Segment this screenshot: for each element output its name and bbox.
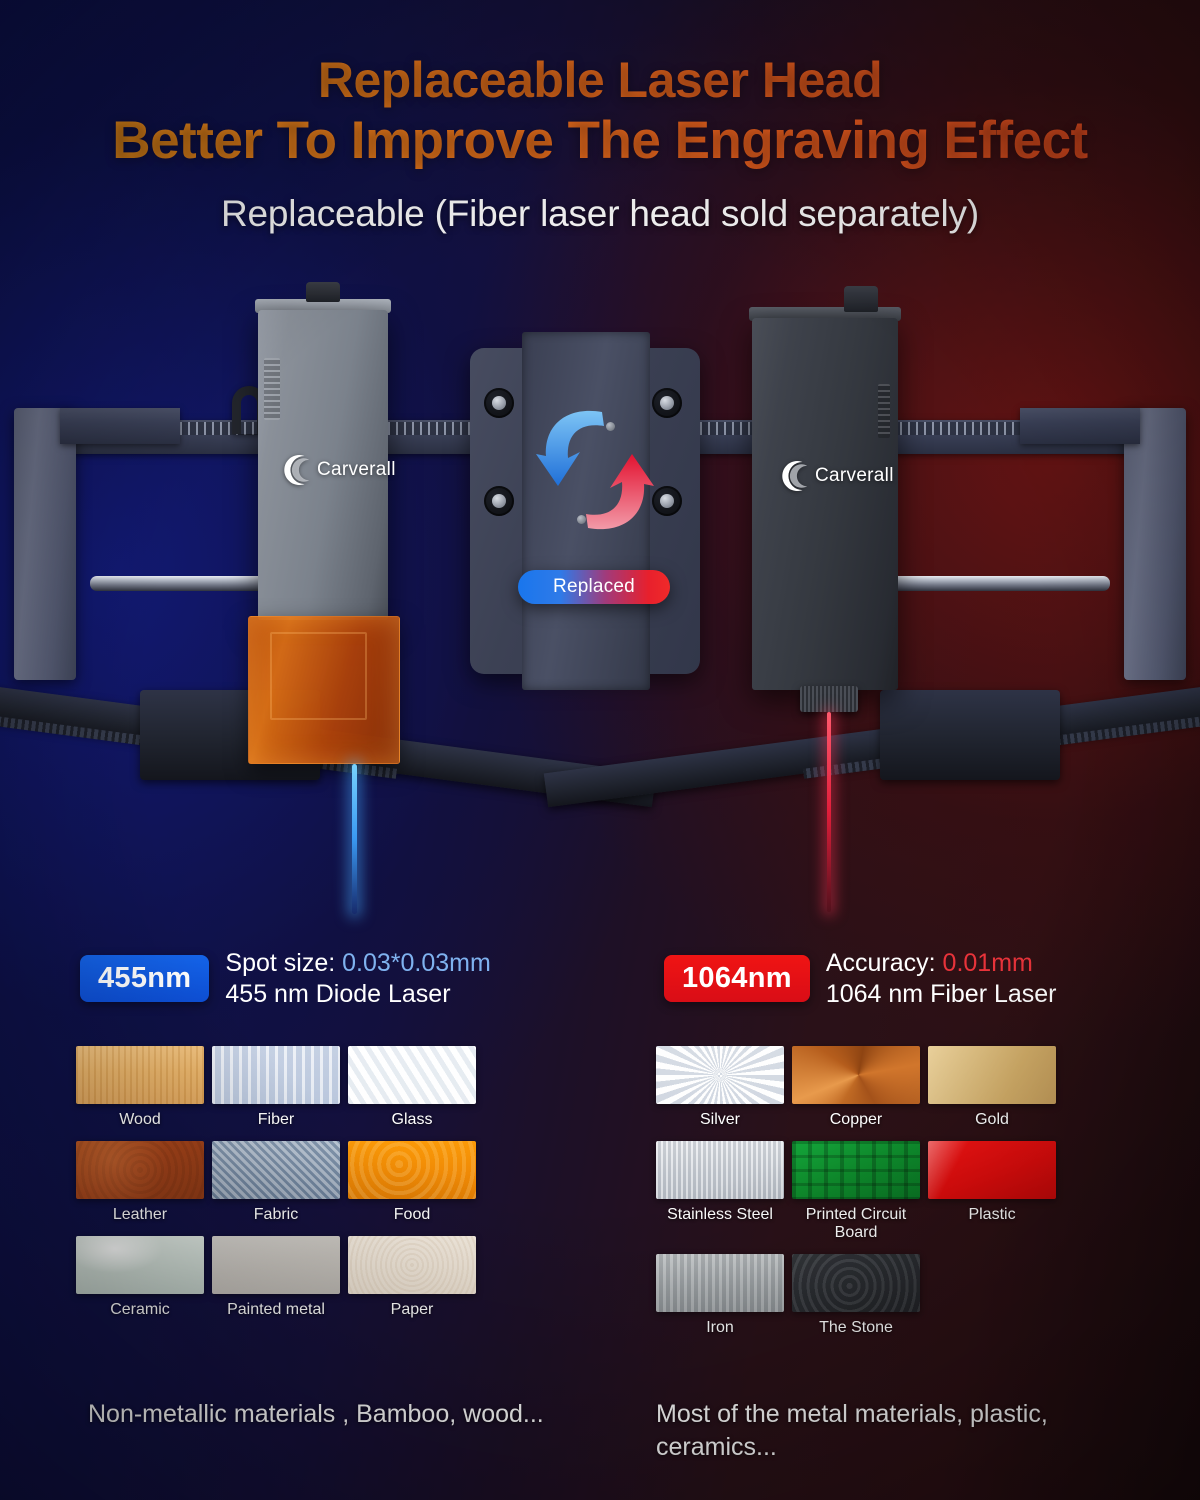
material-label: Glass [348, 1111, 476, 1129]
material-swatch [76, 1046, 204, 1104]
material-cell: Silver [656, 1046, 784, 1129]
material-swatch [656, 1254, 784, 1312]
material-swatch [928, 1141, 1056, 1199]
support-block-right [880, 690, 1060, 780]
rod-right [870, 576, 1110, 591]
accuracy-value: 0.01mm [943, 949, 1033, 977]
material-label: Fabric [212, 1206, 340, 1224]
material-cell: Fabric [212, 1141, 340, 1224]
material-label: Wood [76, 1111, 204, 1129]
material-label: Painted metal [212, 1301, 340, 1319]
material-cell: Copper [792, 1046, 920, 1129]
material-swatch [348, 1236, 476, 1294]
fiber-laser-line: 1064 nm Fiber Laser [826, 979, 1057, 1010]
material-label: Food [348, 1206, 476, 1224]
fiber-head-body [752, 318, 898, 690]
spot-size-label: Spot size: [225, 949, 335, 977]
laser-machine-illustration: Carverall [0, 290, 1200, 930]
material-label: Paper [348, 1301, 476, 1319]
spec-text-diode: Spot size: 0.03*0.03mm 455 nm Diode Lase… [225, 948, 490, 1009]
heading-block: Replaceable Laser Head Better To Improve… [0, 52, 1200, 235]
headline-primary: Replaceable Laser Head [0, 52, 1200, 109]
fiber-laser-head[interactable]: Carverall [752, 318, 898, 690]
frame-left [14, 408, 76, 680]
fiber-focus-ring [800, 686, 858, 712]
material-swatch [76, 1141, 204, 1199]
diode-head-vents-icon [264, 358, 280, 420]
material-label: Plastic [928, 1206, 1056, 1224]
material-swatch [792, 1141, 920, 1199]
spec-row-fiber: 1064nm Accuracy: 0.01mm 1064 nm Fiber La… [664, 948, 1057, 1009]
material-label: Copper [792, 1111, 920, 1129]
material-cell: Gold [928, 1046, 1056, 1129]
material-cell: Leather [76, 1141, 204, 1224]
material-swatch [348, 1141, 476, 1199]
material-label: Silver [656, 1111, 784, 1129]
accuracy-label: Accuracy: [826, 949, 936, 977]
brand-logo-text: Carverall [815, 465, 894, 487]
accuracy-line: Accuracy: 0.01mm [826, 948, 1057, 979]
spec-text-fiber: Accuracy: 0.01mm 1064 nm Fiber Laser [826, 948, 1057, 1009]
material-cell: Paper [348, 1236, 476, 1319]
material-label: Iron [656, 1319, 784, 1337]
crescent-moon-icon [780, 460, 810, 492]
material-label: Stainless Steel [656, 1206, 784, 1224]
brand-logo-fiber: Carverall [780, 460, 894, 492]
wavelength-badge-1064: 1064nm [664, 955, 810, 1002]
material-cell: Painted metal [212, 1236, 340, 1319]
replaced-badge: Replaced [518, 570, 670, 604]
material-cell: Plastic [928, 1141, 1056, 1242]
brand-logo-diode: Carverall [282, 454, 396, 486]
base-rail-back [544, 682, 1200, 807]
fiber-head-vents-icon [878, 384, 890, 438]
caption-diode: Non-metallic materials , Bamboo, wood... [88, 1398, 628, 1431]
material-swatch [928, 1046, 1056, 1104]
material-cell: Wood [76, 1046, 204, 1129]
spot-size-line: Spot size: 0.03*0.03mm [225, 948, 490, 979]
swap-arrows-icon [530, 400, 660, 540]
diode-head-port [306, 282, 340, 302]
material-cell: The Stone [792, 1254, 920, 1337]
replaced-badge-label: Replaced [553, 576, 635, 598]
product-feature-page: Replaceable Laser Head Better To Improve… [0, 0, 1200, 1500]
material-cell: Stainless Steel [656, 1141, 784, 1242]
material-cell: Food [348, 1141, 476, 1224]
material-swatch [212, 1046, 340, 1104]
material-label: Fiber [212, 1111, 340, 1129]
wavelength-badge-455: 455nm [80, 955, 209, 1002]
material-cell: Iron [656, 1254, 784, 1337]
material-label: Gold [928, 1111, 1056, 1129]
material-swatch [76, 1236, 204, 1294]
red-laser-beam [827, 712, 831, 912]
crescent-moon-icon [282, 454, 312, 486]
laser-safety-shield [248, 616, 400, 764]
caption-fiber: Most of the metal materials, plastic, ce… [656, 1398, 1126, 1464]
material-grid-fiber: SilverCopperGoldStainless SteelPrinted C… [656, 1046, 1056, 1337]
material-swatch [212, 1236, 340, 1294]
blue-laser-beam [352, 764, 357, 914]
material-label: The Stone [792, 1319, 920, 1337]
material-swatch [792, 1046, 920, 1104]
fiber-head-port [844, 286, 878, 312]
material-cell: Ceramic [76, 1236, 204, 1319]
material-swatch [656, 1141, 784, 1199]
material-cell: Printed Circuit Board [792, 1141, 920, 1242]
mount-bolt-bottom-left [484, 486, 514, 516]
headline-secondary: Better To Improve The Engraving Effect [0, 111, 1200, 171]
material-cell: Fiber [212, 1046, 340, 1129]
spec-row-diode: 455nm Spot size: 0.03*0.03mm 455 nm Diod… [80, 948, 491, 1009]
brand-logo-text: Carverall [317, 459, 396, 481]
frame-right [1124, 408, 1186, 680]
subtitle: Replaceable (Fiber laser head sold separ… [0, 193, 1200, 235]
material-cell: Glass [348, 1046, 476, 1129]
material-label: Leather [76, 1206, 204, 1224]
diode-laser-head[interactable]: Carverall [258, 310, 388, 620]
material-swatch [656, 1046, 784, 1104]
material-swatch [792, 1254, 920, 1312]
material-label: Printed Circuit Board [792, 1206, 920, 1242]
frame-left-arm [60, 408, 180, 444]
spot-size-value: 0.03*0.03mm [342, 949, 491, 977]
material-swatch [212, 1141, 340, 1199]
frame-right-arm [1020, 408, 1140, 444]
diode-laser-line: 455 nm Diode Laser [225, 979, 490, 1010]
material-grid-diode: WoodFiberGlassLeatherFabricFoodCeramicPa… [76, 1046, 476, 1319]
material-label: Ceramic [76, 1301, 204, 1319]
mount-bolt-top-left [484, 388, 514, 418]
material-swatch [348, 1046, 476, 1104]
